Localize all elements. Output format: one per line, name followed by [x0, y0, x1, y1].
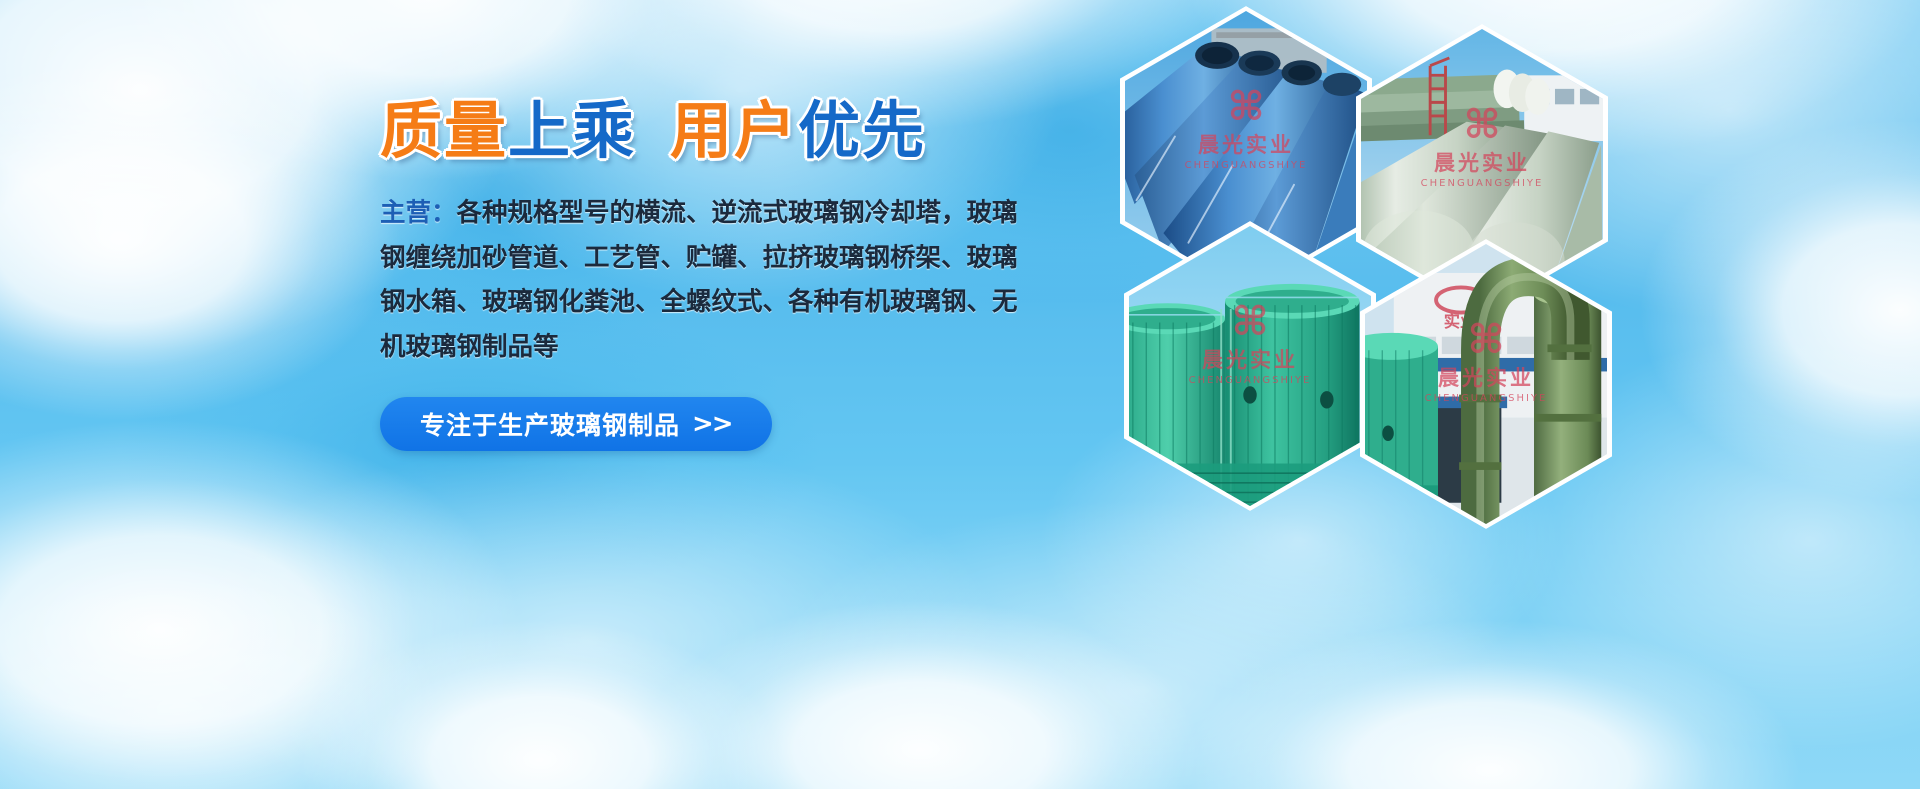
headline-part-1: 质量 [380, 96, 508, 165]
headline-part-3: 用户 [670, 96, 798, 165]
description-body: 各种规格型号的横流、逆流式玻璃钢冷却塔，玻璃钢缠绕加砂管道、工艺管、贮罐、拉挤玻… [380, 198, 1018, 361]
cloud [0, 560, 440, 789]
hero-banner: 质量上乘用户优先 主营：各种规格型号的横流、逆流式玻璃钢冷却塔，玻璃钢缠绕加砂管… [0, 0, 1920, 789]
cloud [0, 420, 520, 789]
hero-description: 主营：各种规格型号的横流、逆流式玻璃钢冷却塔，玻璃钢缠绕加砂管道、工艺管、贮罐、… [380, 191, 1020, 368]
page-title: 质量上乘用户优先 [380, 96, 1080, 165]
cloud [300, 620, 780, 789]
hex-image-gallery: ⌘ 晨光实业 CHENGUANGSHIYE [1120, 6, 1680, 476]
chevron-right-icon: >> [692, 409, 732, 439]
scrubber-tower-illustration: 实业 [1365, 244, 1607, 524]
headline-part-2: 上乘 [508, 96, 636, 165]
gallery-item-cooling-towers[interactable]: ⌘ 晨光实业 CHENGUANGSHIYE [1124, 221, 1376, 511]
gallery-item-scrubber-tower[interactable]: 实业 [1360, 239, 1612, 529]
cloud [1180, 620, 1800, 789]
cloud [180, 440, 1000, 789]
cta-label: 专注于生产玻璃钢制品 [420, 406, 680, 442]
headline-part-4: 优先 [798, 96, 926, 165]
description-label: 主营： [380, 198, 457, 228]
cloud [1640, 120, 1920, 500]
hex-photo: 实业 [1365, 244, 1607, 524]
cloud [760, 500, 1520, 789]
cta-button[interactable]: 专注于生产玻璃钢制品 >> [380, 397, 772, 451]
hex-photo: ⌘ 晨光实业 CHENGUANGSHIYE [1129, 226, 1371, 506]
cooling-towers-illustration [1129, 226, 1371, 506]
hero-copy: 质量上乘用户优先 主营：各种规格型号的横流、逆流式玻璃钢冷却塔，玻璃钢缠绕加砂管… [380, 96, 1080, 451]
cloud [640, 600, 1200, 789]
cloud [0, 60, 400, 420]
